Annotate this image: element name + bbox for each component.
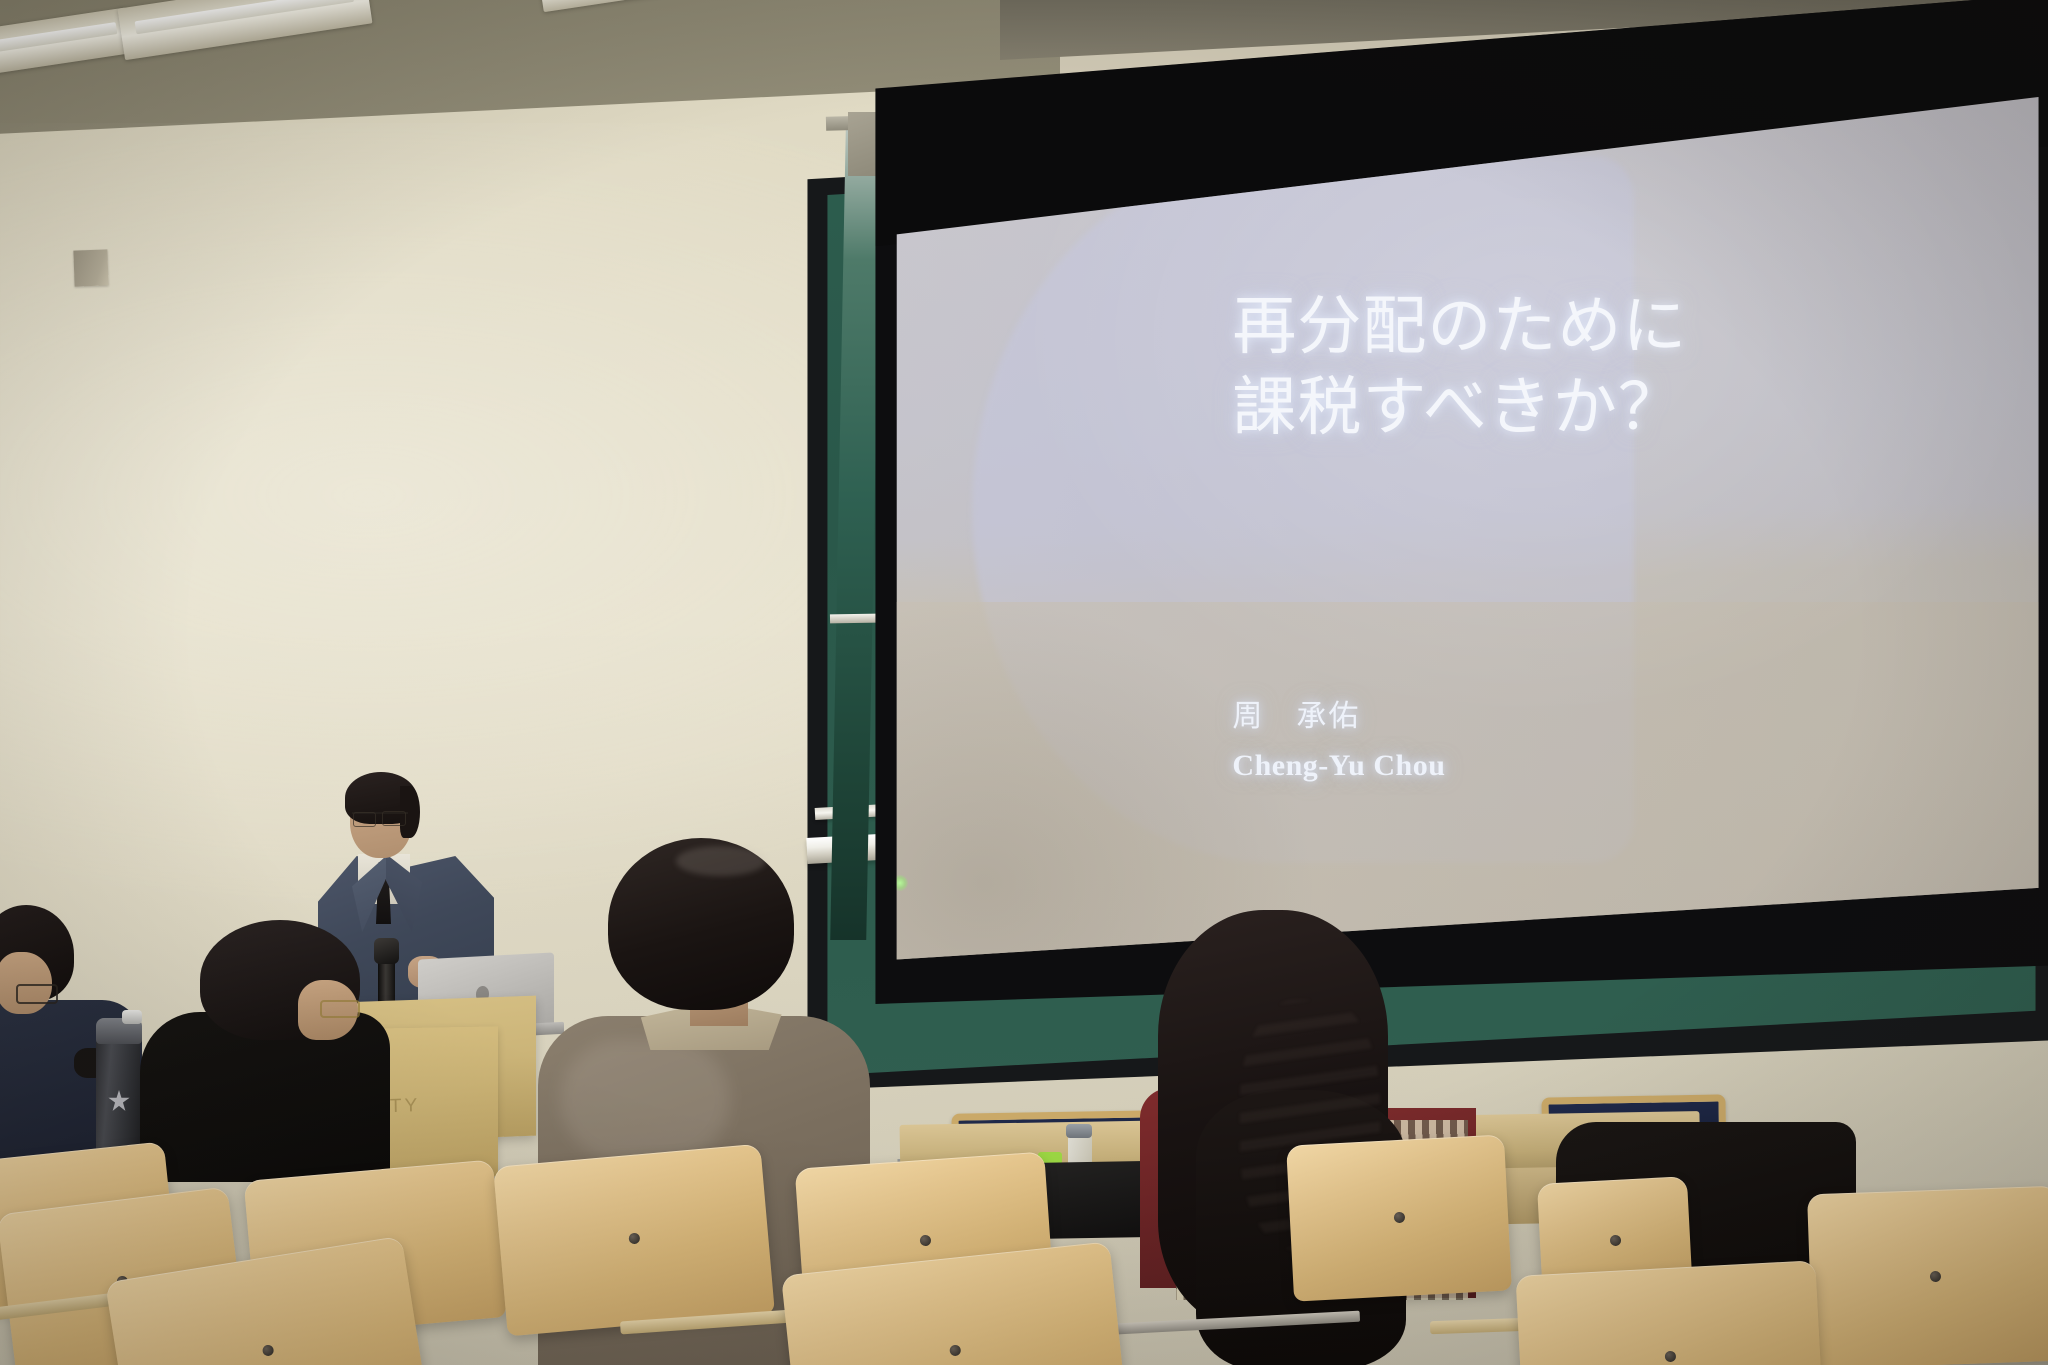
bottle-spout bbox=[122, 1010, 142, 1024]
glasses-lens-left bbox=[353, 812, 376, 827]
slide-author-japanese: 周 承佑 bbox=[1232, 691, 1965, 735]
student-left-face bbox=[0, 952, 52, 1014]
plastic-bottle-cap bbox=[1066, 1124, 1092, 1138]
microphone-head bbox=[374, 938, 399, 964]
jacket-highlight bbox=[560, 1040, 730, 1160]
hair-highlight bbox=[676, 846, 766, 876]
slide-author-english: Cheng-Yu Chou bbox=[1232, 749, 1965, 783]
lecture-seat[interactable] bbox=[1286, 1134, 1512, 1301]
slide-title: 再分配のために 課税すべきか？ bbox=[1232, 287, 1965, 448]
lecture-hall-photo: 再分配のために 課税すべきか？ 周 承佑 Cheng-Yu Chou SITY bbox=[0, 0, 2048, 1365]
wall-speaker-icon bbox=[73, 249, 108, 286]
lecture-seat[interactable] bbox=[1807, 1186, 2048, 1365]
glasses-icon bbox=[16, 984, 58, 1004]
glasses-icon bbox=[320, 1000, 360, 1018]
lecture-seat[interactable] bbox=[493, 1144, 775, 1337]
glasses-lens-right bbox=[382, 811, 406, 826]
projection-screen: 再分配のために 課税すべきか？ 周 承佑 Cheng-Yu Chou bbox=[866, 0, 2048, 1004]
lecture-seat[interactable] bbox=[1515, 1260, 1824, 1365]
slide-title-block: 再分配のために 課税すべきか？ bbox=[1232, 287, 1965, 448]
slide-author-block: 周 承佑 Cheng-Yu Chou bbox=[1232, 691, 1965, 783]
